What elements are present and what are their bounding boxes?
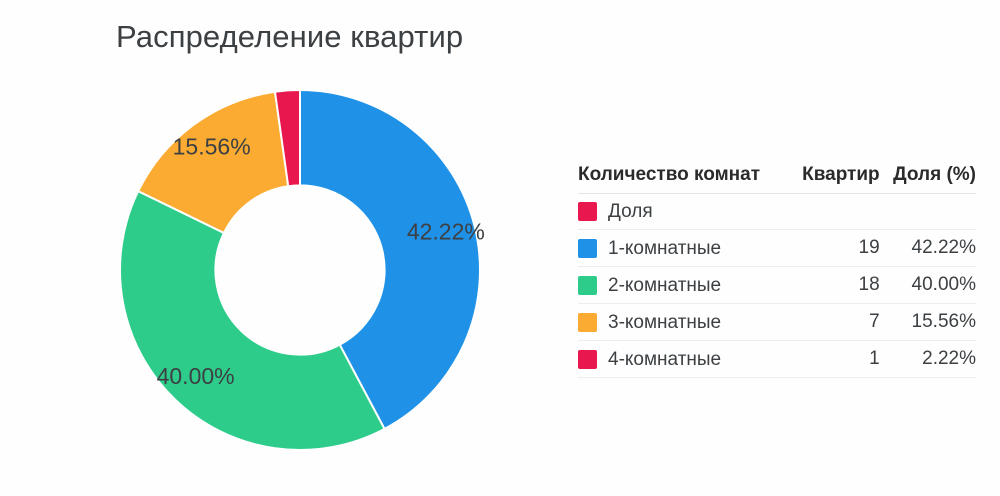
legend-count-value: 7 bbox=[790, 304, 880, 341]
legend-count-value bbox=[790, 194, 880, 230]
legend-table-head: Количество комнат Квартир Доля (%) bbox=[578, 160, 976, 194]
legend-name-cell: Доля bbox=[578, 194, 790, 230]
slice-label-2: 40.00% bbox=[157, 363, 235, 389]
color-swatch-icon bbox=[578, 350, 597, 369]
header-rooms: Количество комнат bbox=[578, 160, 790, 194]
legend-count-value: 18 bbox=[790, 267, 880, 304]
legend-item-label: 2-комнатные bbox=[608, 276, 721, 295]
legend-name-wrap: 1-комнатные bbox=[578, 239, 790, 258]
slice-label-1: 42.22% bbox=[407, 219, 485, 245]
legend-name-cell: 2-комнатные bbox=[578, 267, 790, 304]
legend-name-wrap: Доля bbox=[578, 202, 790, 221]
legend-name-wrap: 3-комнатные bbox=[578, 313, 790, 332]
legend-name-cell: 3-комнатные bbox=[578, 304, 790, 341]
legend-name-cell: 1-комнатные bbox=[578, 230, 790, 267]
color-swatch-icon bbox=[578, 202, 597, 221]
color-swatch-icon bbox=[578, 313, 597, 332]
legend-header-row: Количество комнат Квартир Доля (%) bbox=[578, 160, 976, 194]
legend-share-value bbox=[880, 194, 976, 230]
slice-label-3: 15.56% bbox=[173, 133, 251, 159]
legend-name-wrap: 4-комнатные bbox=[578, 350, 790, 369]
table-row[interactable]: 2-комнатные1840.00% bbox=[578, 267, 976, 304]
legend-name-cell: 4-комнатные bbox=[578, 341, 790, 378]
donut-slice-2[interactable] bbox=[120, 191, 385, 450]
legend-share-value: 40.00% bbox=[880, 267, 976, 304]
table-row[interactable]: 3-комнатные715.56% bbox=[578, 304, 976, 341]
table-row[interactable]: Доля bbox=[578, 194, 976, 230]
table-row[interactable]: 4-комнатные12.22% bbox=[578, 341, 976, 378]
legend-item-label: 3-комнатные bbox=[608, 313, 721, 332]
legend-item-label: Доля bbox=[608, 202, 653, 221]
legend-share-value: 42.22% bbox=[880, 230, 976, 267]
legend-share-value: 15.56% bbox=[880, 304, 976, 341]
legend-count-value: 19 bbox=[790, 230, 880, 267]
legend-table: Количество комнат Квартир Доля (%) Доля1… bbox=[578, 160, 976, 378]
header-share: Доля (%) bbox=[880, 160, 976, 194]
page-title: Распределение квартир bbox=[116, 19, 463, 55]
color-swatch-icon bbox=[578, 276, 597, 295]
legend-share-value: 2.22% bbox=[880, 341, 976, 378]
donut-chart-svg: 42.22%40.00%15.56%2.22% bbox=[112, 82, 488, 458]
donut-chart: 42.22%40.00%15.56%2.22% bbox=[112, 82, 488, 458]
legend-item-label: 4-комнатные bbox=[608, 350, 721, 369]
legend-count-value: 1 bbox=[790, 341, 880, 378]
color-swatch-icon bbox=[578, 239, 597, 258]
legend-name-wrap: 2-комнатные bbox=[578, 276, 790, 295]
table-row[interactable]: 1-комнатные1942.22% bbox=[578, 230, 976, 267]
legend-table-body: Доля1-комнатные1942.22%2-комнатные1840.0… bbox=[578, 194, 976, 378]
chart-page: Распределение квартир 42.22%40.00%15.56%… bbox=[0, 0, 1000, 496]
header-count: Квартир bbox=[790, 160, 880, 194]
legend-item-label: 1-комнатные bbox=[608, 239, 721, 258]
